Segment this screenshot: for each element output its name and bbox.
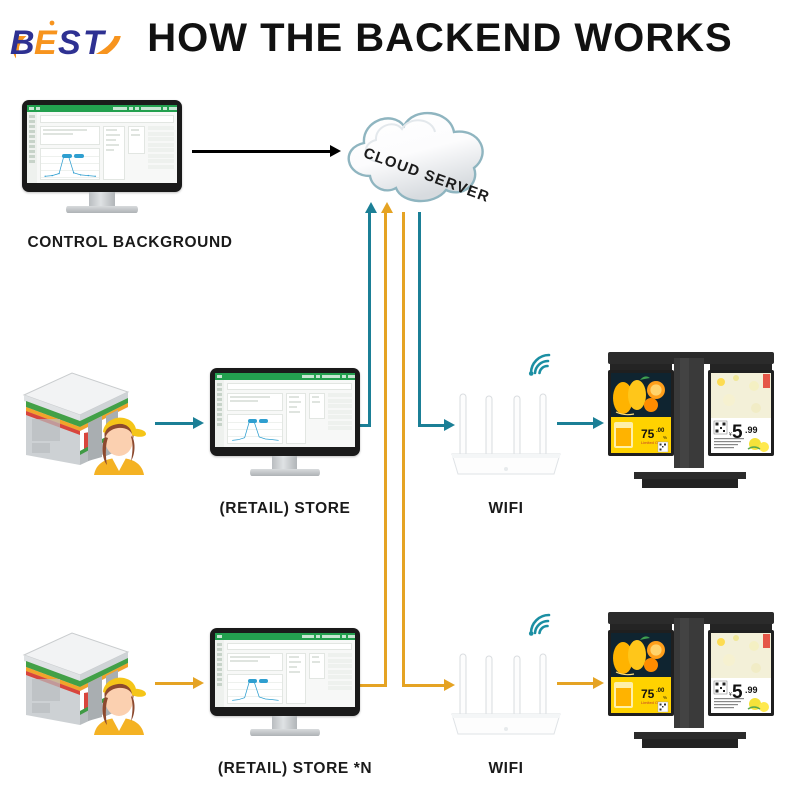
svg-text:T: T	[83, 24, 107, 62]
monitor-screen	[215, 633, 355, 707]
store-staff-avatar	[88, 415, 150, 477]
control-background-label: CONTROL BACKGROUND	[10, 234, 250, 252]
retail-store-monitor	[210, 368, 360, 480]
monitor-neck	[272, 456, 297, 469]
wifi-row2-label: WIFI	[446, 760, 566, 778]
cloud-server-node: CLOUD SERVER	[330, 88, 510, 218]
svg-text:B: B	[10, 24, 35, 62]
svg-text:75: 75	[641, 427, 655, 441]
brand-logo: B E S T	[8, 10, 126, 72]
monitor-neck	[89, 192, 115, 206]
monitor-base	[250, 729, 320, 736]
svg-text:.99: .99	[745, 425, 758, 435]
monitor-screen	[27, 105, 177, 183]
retail-store-n-label: (RETAIL) STORE *N	[200, 760, 390, 778]
monitor-base	[250, 469, 320, 476]
wifi-signal-icon-row2	[527, 612, 555, 638]
svg-text:S: S	[58, 24, 81, 62]
svg-text:.00: .00	[656, 428, 665, 434]
retail-store-label: (RETAIL) STORE	[200, 500, 370, 518]
digital-signage-row2: 75 .00 % Limited Offer ¥	[596, 608, 786, 760]
retail-store-n-monitor	[210, 628, 360, 740]
svg-text:5: 5	[732, 422, 743, 443]
wifi-signal-icon	[527, 352, 555, 378]
monitor-base	[66, 206, 138, 213]
monitor-neck	[272, 716, 297, 729]
svg-text:75: 75	[641, 687, 655, 701]
page-title: HOW THE BACKEND WORKS	[140, 14, 740, 62]
svg-text:5: 5	[732, 682, 743, 703]
monitor-screen	[215, 373, 355, 447]
svg-text:.99: .99	[745, 685, 758, 695]
store-n-staff-avatar	[88, 675, 150, 737]
digital-signage-row1: 75 .00 % Limited Offer	[596, 348, 786, 500]
wifi-router-row2	[446, 640, 566, 740]
svg-text:.00: .00	[656, 688, 665, 694]
diagram-canvas: B E S T HOW THE BACKEND WORKS CLOUD SERV…	[0, 0, 800, 800]
wifi-router	[446, 380, 566, 480]
wifi-row1-label: WIFI	[446, 500, 566, 518]
svg-text:E: E	[34, 24, 58, 62]
control-background-monitor	[22, 100, 182, 215]
